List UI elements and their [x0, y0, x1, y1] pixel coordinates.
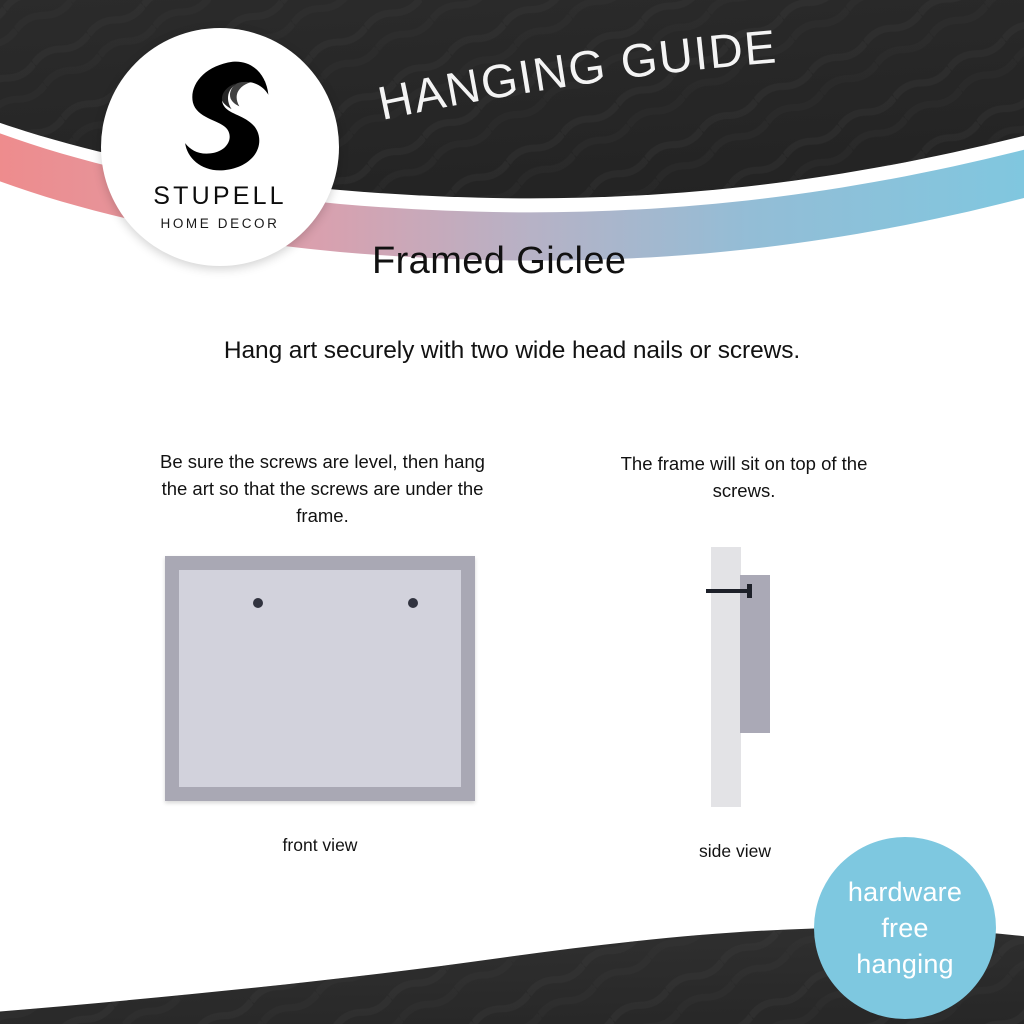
- hardware-free-hanging-badge: hardware free hanging: [814, 837, 996, 1019]
- side-view-frame: [740, 575, 770, 733]
- front-view-caption: Be sure the screws are level, then hang …: [160, 448, 485, 529]
- side-view-screw-shaft: [706, 589, 750, 593]
- badge-line-2: free: [881, 910, 928, 946]
- front-view-label: front view: [200, 835, 440, 856]
- side-view-wall: [711, 547, 741, 807]
- badge-line-1: hardware: [848, 874, 962, 910]
- side-view-diagram: [700, 540, 790, 810]
- side-view-label: side view: [635, 841, 835, 862]
- screw-dot-left: [253, 598, 263, 608]
- side-view-caption: The frame will sit on top of the screws.: [598, 450, 890, 504]
- page-title-text: HANGING GUIDE: [373, 19, 779, 129]
- badge-line-3: hanging: [856, 946, 954, 982]
- brand-name: STUPELL: [153, 182, 287, 211]
- front-view-art-panel: [179, 570, 461, 787]
- page-title: HANGING GUIDE: [378, 52, 878, 137]
- brand-logo-badge: STUPELL HOME DECOR: [101, 28, 339, 266]
- hanging-guide-page: STUPELL HOME DECOR HANGING GUIDE Framed …: [0, 0, 1024, 1024]
- screw-dot-right: [408, 598, 418, 608]
- lead-instruction: Hang art securely with two wide head nai…: [0, 337, 1024, 365]
- side-view-screw-head: [747, 584, 752, 598]
- front-view-diagram: [165, 556, 475, 801]
- brand-tagline: HOME DECOR: [160, 216, 279, 231]
- product-type-heading: Framed Giclee: [372, 240, 626, 283]
- stupell-swirl-logo-icon: [161, 56, 279, 176]
